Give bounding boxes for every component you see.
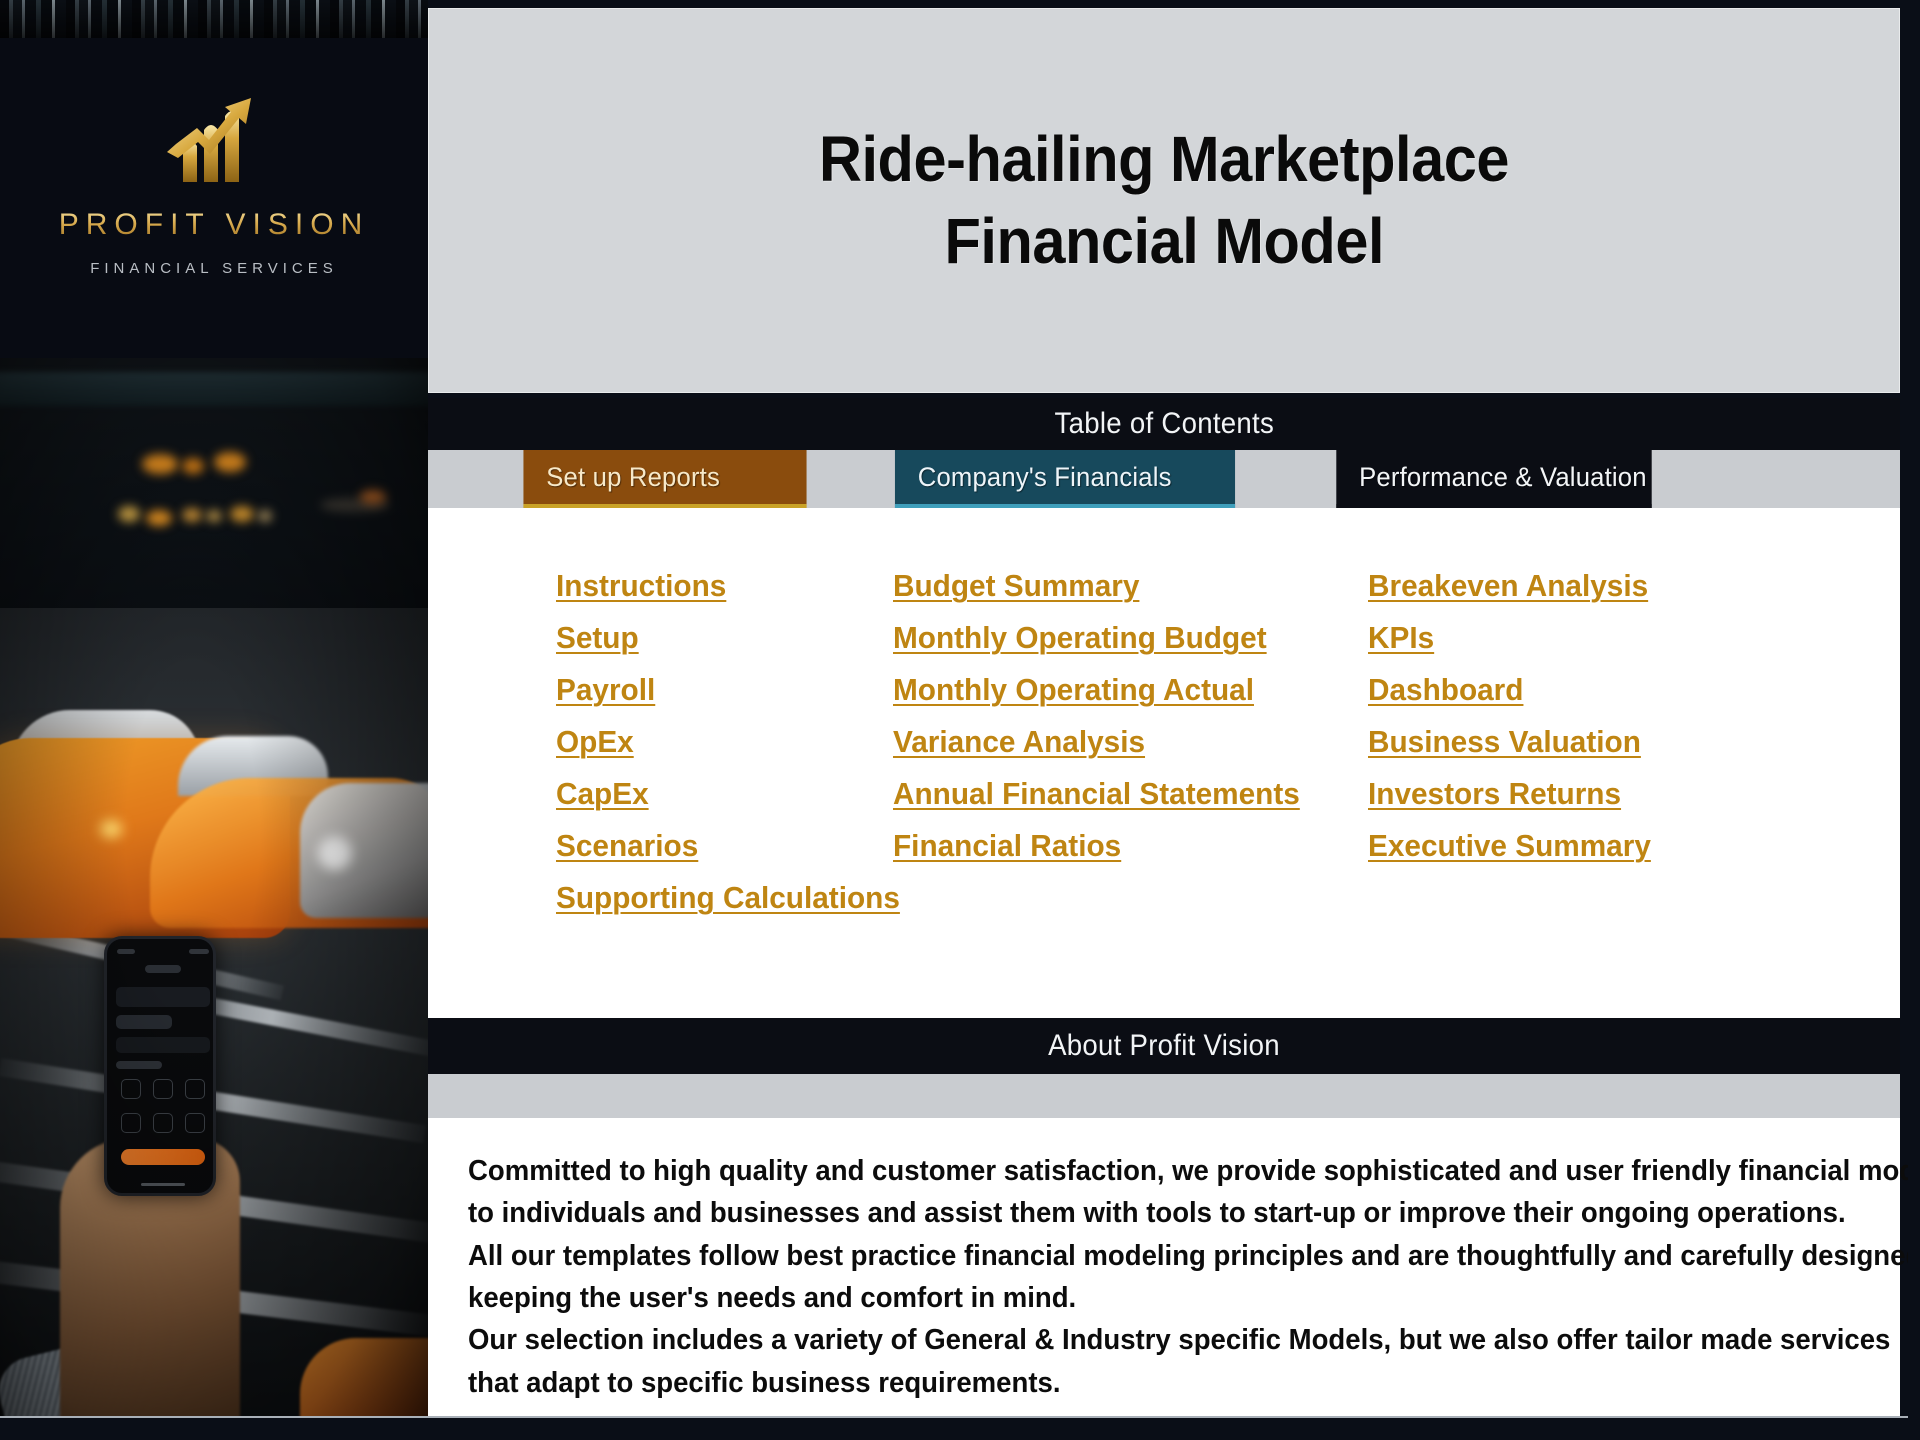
toc-link-breakeven-analysis[interactable]: Breakeven Analysis: [1368, 570, 1771, 601]
tab-companys-financials[interactable]: Company's Financials: [895, 450, 1235, 508]
toc-column-set-up-reports: Instructions Setup Payroll OpEx CapEx Sc…: [428, 570, 848, 1018]
about-section-body: Committed to high quality and customer s…: [428, 1118, 1900, 1418]
brand-name: PROFIT VISION: [0, 208, 428, 242]
about-gray-band: [428, 1074, 1900, 1118]
tab-performance-valuation-label: Performance & Valuation: [1359, 462, 1647, 493]
toc-link-opex[interactable]: OpEx: [556, 726, 836, 757]
toc-link-setup[interactable]: Setup: [556, 622, 836, 653]
toc-link-kpis[interactable]: KPIs: [1368, 622, 1771, 653]
toc-link-monthly-operating-actual[interactable]: Monthly Operating Actual: [893, 674, 1301, 705]
toc-column-companys-financials: Budget Summary Monthly Operating Budget …: [848, 570, 1318, 1018]
bottom-frame-band: [0, 1418, 1920, 1440]
about-line-2: to individuals and businesses and assist…: [468, 1192, 1790, 1234]
about-line-1: Committed to high quality and customer s…: [468, 1150, 1790, 1192]
brand-tagline: FINANCIAL SERVICES: [0, 260, 428, 277]
top-filmstrip-decoration: [0, 0, 428, 38]
about-line-3: All our templates follow best practice f…: [468, 1235, 1790, 1277]
right-frame-band: [1908, 0, 1920, 1440]
page-title-line-1: Ride-hailing Marketplace: [819, 119, 1509, 201]
toc-link-capex[interactable]: CapEx: [556, 778, 836, 809]
sidebar-photo: [0, 358, 428, 1418]
page-title-line-2: Financial Model: [944, 201, 1383, 283]
toc-link-supporting-calculations[interactable]: Supporting Calculations: [556, 882, 836, 913]
tab-set-up-reports-label: Set up Reports: [546, 462, 720, 493]
brand-logo-block: PROFIT VISION FINANCIAL SERVICES: [0, 38, 428, 358]
toc-column-performance-valuation: Breakeven Analysis KPIs Dashboard Busine…: [1318, 570, 1788, 1018]
toc-link-payroll[interactable]: Payroll: [556, 674, 836, 705]
toc-link-financial-ratios[interactable]: Financial Ratios: [893, 830, 1301, 861]
gold-bar-chart-arrow-icon: [159, 90, 269, 182]
toc-link-annual-financial-statements[interactable]: Annual Financial Statements: [893, 778, 1301, 809]
toc-link-business-valuation[interactable]: Business Valuation: [1368, 726, 1771, 757]
tab-spacer-1: [814, 450, 886, 508]
about-line-4: keeping the user's needs and comfort in …: [468, 1277, 1790, 1319]
toc-link-instructions[interactable]: Instructions: [556, 570, 836, 601]
about-heading-text: About Profit Vision: [1048, 1029, 1280, 1063]
toc-link-investors-returns[interactable]: Investors Returns: [1368, 778, 1771, 809]
tab-spacer-2: [1244, 450, 1328, 508]
table-of-contents-heading-text: Table of Contents: [1054, 407, 1274, 441]
toc-link-variance-analysis[interactable]: Variance Analysis: [893, 726, 1301, 757]
toc-link-scenarios[interactable]: Scenarios: [556, 830, 836, 861]
about-line-6: that adapt to specific business requirem…: [468, 1362, 1790, 1404]
slide-canvas: PROFIT VISION FINANCIAL SERVICES: [0, 0, 1920, 1440]
title-card: Ride-hailing Marketplace Financial Model: [428, 8, 1900, 393]
tab-set-up-reports[interactable]: Set up Reports: [523, 450, 806, 508]
toc-link-dashboard[interactable]: Dashboard: [1368, 674, 1771, 705]
toc-link-columns: Instructions Setup Payroll OpEx CapEx Sc…: [428, 508, 1900, 1018]
toc-link-budget-summary[interactable]: Budget Summary: [893, 570, 1301, 601]
about-section-header: About Profit Vision: [428, 1018, 1900, 1074]
tab-spacer-right: [1660, 450, 1900, 508]
table-of-contents-header: Table of Contents: [428, 398, 1900, 450]
tab-performance-valuation[interactable]: Performance & Valuation: [1336, 450, 1651, 508]
toc-link-monthly-operating-budget[interactable]: Monthly Operating Budget: [893, 622, 1301, 653]
about-line-5: Our selection includes a variety of Gene…: [468, 1319, 1790, 1361]
toc-tab-strip: Set up Reports Company's Financials Perf…: [428, 450, 1900, 508]
main-pane: Ride-hailing Marketplace Financial Model…: [428, 0, 1908, 1418]
toc-link-executive-summary[interactable]: Executive Summary: [1368, 830, 1771, 861]
tab-companys-financials-label: Company's Financials: [918, 462, 1172, 493]
tab-spacer-left: [428, 450, 516, 508]
sidebar: PROFIT VISION FINANCIAL SERVICES: [0, 0, 428, 1418]
